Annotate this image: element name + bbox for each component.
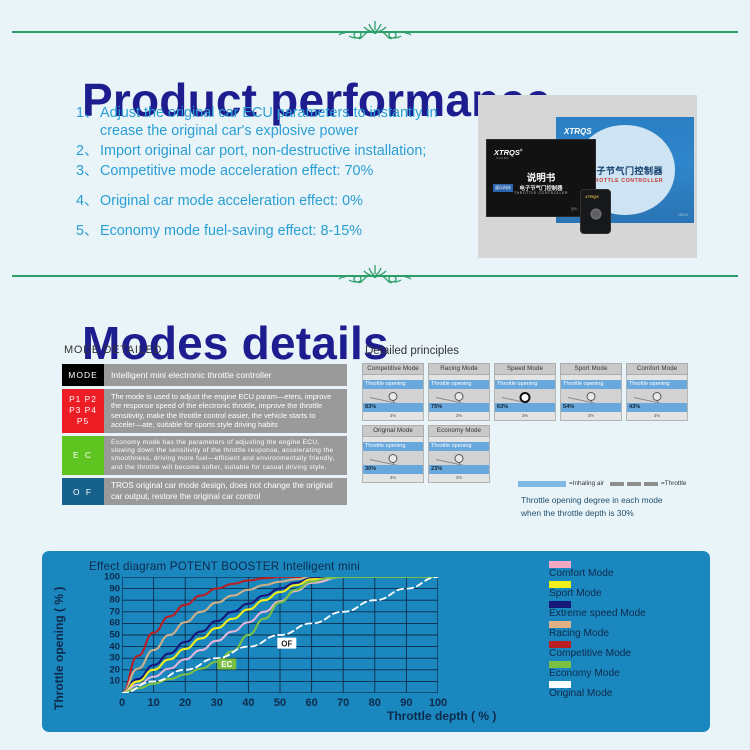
principles-card: Original Mode Throttle opening 30% 3% [362, 425, 424, 483]
detailed-principles-title: Detailed principles [365, 345, 459, 357]
mode-description-cell: Intelligent mini electronic throttle con… [104, 364, 347, 386]
chart-y-tick: 100 [104, 572, 120, 583]
principles-card: Racing Mode Throttle opening 75% 3% [428, 363, 490, 421]
chart-legend-label: Comfort Mode [549, 568, 646, 580]
mode-key-cell: P1 P2 P3 P4 P5 [62, 389, 104, 433]
device-button-icon [590, 208, 601, 219]
mode-key-line: P3 P4 [69, 405, 97, 416]
card-throttle-opening-label: Throttle opening [363, 442, 423, 451]
card-value: 30% [363, 465, 423, 474]
card-body: Throttle opening 54% 3% [560, 375, 622, 421]
card-knob-icon [587, 392, 596, 401]
card-value: 63% [495, 403, 555, 412]
chart-y-tick: 40 [109, 641, 120, 652]
card-title: Competitive Mode [362, 363, 424, 375]
chart-x-tick: 80 [369, 697, 381, 709]
chart-x-tick: 50 [274, 697, 286, 709]
card-title: Original Mode [362, 425, 424, 437]
list-item: 2、 Import original car port, non-destruc… [76, 142, 476, 160]
chart-x-tick: 20 [179, 697, 191, 709]
chart-legend-item: Racing Mode [549, 621, 646, 640]
throttle-swatch [610, 482, 658, 486]
list-item-number: 3、 [76, 162, 100, 180]
effect-diagram-chart: Effect diagram POTENT BOOSTER Intelligen… [42, 551, 710, 732]
card-knob-icon [389, 454, 398, 463]
mode-detailed-title: MODE DETAILED [64, 344, 162, 356]
card-depth-label: 3% [363, 412, 423, 420]
card-depth-label: 3% [429, 474, 489, 482]
chart-y-tick: 50 [109, 630, 120, 641]
chart-legend-label: Sport Mode [549, 588, 646, 600]
chart-plot-area: ECOF [122, 577, 438, 693]
card-title: Sport Mode [560, 363, 622, 375]
chart-legend-item: Economy Mode [549, 661, 646, 680]
ornament-divider-middle [0, 262, 750, 288]
ornament-divider-top [0, 18, 750, 44]
chart-x-tick: 10 [147, 697, 159, 709]
chart-x-axis-label: Throttle depth ( % ) [387, 709, 496, 723]
list-item-number: 4、 [76, 192, 100, 210]
principles-card: Sport Mode Throttle opening 54% 3% [560, 363, 622, 421]
chart-x-tick: 100 [429, 697, 447, 709]
list-item-text: Economy mode fuel-saving effect: 8-15% [100, 222, 476, 240]
manual-english-subtitle: THROTTLE CONTROLLER [487, 191, 595, 195]
card-throttle-opening-label: Throttle opening [627, 380, 687, 389]
card-throttle-opening-label: Throttle opening [429, 442, 489, 451]
card-value: 23% [429, 465, 489, 474]
card-throttle-opening-label: Throttle opening [495, 380, 555, 389]
chart-legend: Comfort ModeSport ModeExtreme speed Mode… [549, 561, 646, 701]
flourish-ornament-icon [315, 18, 435, 49]
list-item: 3、 Competitive mode acceleration effect:… [76, 162, 476, 180]
chart-legend-label: Competitive Mode [549, 648, 646, 660]
card-depth-label: 3% [561, 412, 621, 420]
chart-legend-item: Comfort Mode [549, 561, 646, 580]
chart-y-tick: 30 [109, 653, 120, 664]
product-page: Product performance 1、 Adjust the origin… [0, 0, 750, 750]
list-item: 5、 Economy mode fuel-saving effect: 8-15… [76, 222, 476, 240]
card-title: Economy Mode [428, 425, 490, 437]
list-item: 1、 Adjust the original car ECU parameter… [76, 104, 476, 140]
chart-x-tick: 70 [337, 697, 349, 709]
list-item-text: Original car mode acceleration effect: 0… [100, 192, 476, 210]
card-title: Racing Mode [428, 363, 490, 375]
chart-x-ticks: 0102030405060708090100 [42, 697, 502, 711]
card-body: Throttle opening 75% 3% [428, 375, 490, 421]
principles-card: Speed Mode Throttle opening 63% 3% [494, 363, 556, 421]
chart-legend-swatch [549, 681, 571, 688]
manual-brand-sup: ® [520, 149, 523, 153]
mode-key-line: P1 P2 [69, 394, 97, 405]
card-value: 75% [429, 403, 489, 412]
chart-y-tick: 80 [109, 595, 120, 606]
principles-card-row: Original Mode Throttle opening 30% 3% Ec… [362, 425, 700, 483]
card-body: Throttle opening 30% 3% [362, 437, 424, 483]
chart-y-tick: 60 [109, 618, 120, 629]
mode-description-text: TROS original car mode design, does not … [111, 481, 340, 502]
mode-key-cell: O F [62, 478, 104, 505]
principles-card-row: Competitive Mode Throttle opening 83% 3%… [362, 363, 700, 421]
manual-chinese-title: 说明书 [487, 170, 595, 184]
caption-line-1: Throttle opening degree in each mode [521, 494, 721, 507]
chart-y-tick: 90 [109, 583, 120, 594]
caption-line-2: when the throttle depth is 30% [521, 507, 721, 520]
card-value: 83% [363, 403, 423, 412]
chart-legend-label: Extreme speed Mode [549, 608, 646, 620]
chart-legend-item: Sport Mode [549, 581, 646, 600]
chart-legend-label: Original Mode [549, 688, 646, 700]
list-item-number: 2、 [76, 142, 100, 160]
principles-card: Economy Mode Throttle opening 23% 3% [428, 425, 490, 483]
card-body: Throttle opening 63% 3% [494, 375, 556, 421]
mode-key-cell: E C [62, 436, 104, 476]
table-row: MODE Intelligent mini electronic throttl… [62, 364, 347, 386]
mode-description-cell: The mode is used to adjust the engine EC… [104, 389, 347, 433]
chart-title: Effect diagram POTENT BOOSTER Intelligen… [89, 560, 360, 573]
mode-description-cell: TROS original car mode design, does not … [104, 478, 347, 505]
list-item-text: Competitive mode acceleration effect: 70… [100, 162, 476, 180]
principles-card-grid: Competitive Mode Throttle opening 83% 3%… [362, 363, 700, 487]
mode-description-text: The mode is used to adjust the engine EC… [111, 392, 340, 430]
list-item-text: Adjust the original car ECU parameters t… [100, 104, 476, 140]
card-title: Comfort Mode [626, 363, 688, 375]
chart-x-tick: 60 [305, 697, 317, 709]
card-depth-label: 3% [495, 412, 555, 420]
chart-legend-item: Extreme speed Mode [549, 601, 646, 620]
chart-legend-swatch [549, 561, 571, 568]
card-depth-label: 3% [627, 412, 687, 420]
chart-x-tick: 0 [119, 697, 125, 709]
card-value: 43% [627, 403, 687, 412]
table-row: E C Economy mode has the parameters of a… [62, 436, 347, 476]
chart-y-tick: 70 [109, 606, 120, 617]
box-model-code: MBJS [678, 213, 688, 217]
box-brand-logo: XTRQS [564, 127, 592, 136]
manual-brand-sub: SPEED [496, 156, 509, 160]
card-knob-icon [455, 454, 464, 463]
chart-y-tick: 20 [109, 664, 120, 675]
performance-list: 1、 Adjust the original car ECU parameter… [76, 104, 476, 242]
chart-x-tick: 40 [242, 697, 254, 709]
chart-legend-label: Racing Mode [549, 628, 646, 640]
list-item-text: Import original car port, non-destructiv… [100, 142, 476, 160]
principles-card: Competitive Mode Throttle opening 83% 3% [362, 363, 424, 421]
chart-legend-swatch [549, 601, 571, 608]
throttle-label: =Throttle [661, 480, 686, 487]
card-body: Throttle opening 43% 3% [626, 375, 688, 421]
card-depth-label: 3% [429, 412, 489, 420]
chart-legend-swatch [549, 621, 571, 628]
chart-y-ticks: 102030405060708090100 [88, 573, 120, 697]
list-item-number: 5、 [76, 222, 100, 240]
card-title: Speed Mode [494, 363, 556, 375]
mode-description-cell: Economy mode has the parameters of adjus… [104, 436, 347, 476]
card-knob-icon [653, 392, 662, 401]
table-row: O F TROS original car mode design, does … [62, 478, 347, 505]
chart-legend-label: Economy Mode [549, 668, 646, 680]
card-knob-icon [455, 392, 464, 401]
mode-key-line: P5 [77, 416, 89, 427]
card-body: Throttle opening 23% 3% [428, 437, 490, 483]
device-brand-logo: XTRQS [585, 194, 599, 199]
page-title-modes-details: Modes details [82, 316, 389, 370]
card-throttle-opening-label: Throttle opening [363, 380, 423, 389]
mode-description-text: Intelligent mini electronic throttle con… [111, 370, 272, 380]
card-body: Throttle opening 83% 3% [362, 375, 424, 421]
card-throttle-opening-label: Throttle opening [561, 380, 621, 389]
mode-description-text: Economy mode has the parameters of adjus… [111, 439, 340, 473]
chart-annotation-label: EC [221, 660, 232, 669]
chart-annotation-label: OF [281, 639, 292, 648]
chart-legend-item: Original Mode [549, 681, 646, 700]
chart-x-tick: 90 [400, 697, 412, 709]
legend-row: =Inhaling air =Throttle [518, 480, 703, 487]
chart-y-tick: 10 [109, 676, 120, 687]
inhaling-air-swatch [518, 481, 566, 487]
inhaling-air-label: =Inhaling air [569, 480, 604, 487]
chart-x-tick: 30 [211, 697, 223, 709]
flourish-ornament-icon [315, 262, 435, 293]
chart-legend-swatch [549, 641, 571, 648]
card-knob-icon [520, 392, 531, 403]
principles-legend: =Inhaling air =Throttle [518, 480, 703, 487]
chart-legend-item: Competitive Mode [549, 641, 646, 660]
chart-legend-swatch [549, 661, 571, 668]
card-value: 54% [561, 403, 621, 412]
mode-detailed-table: MODE Intelligent mini electronic throttl… [62, 364, 347, 508]
list-item-number: 1、 [76, 104, 100, 122]
mode-key-cell: MODE [62, 364, 104, 386]
throttle-controller-device: XTRQS [580, 189, 611, 234]
principles-card: Comfort Mode Throttle opening 43% 3% [626, 363, 688, 421]
card-depth-label: 3% [363, 474, 423, 482]
product-photo: XTRQS 速乐 电子节气门控制器 THROTTLE CONTROLLER MB… [478, 95, 697, 258]
list-item: 4、 Original car mode acceleration effect… [76, 192, 476, 210]
card-throttle-opening-label: Throttle opening [429, 380, 489, 389]
chart-legend-swatch [549, 581, 571, 588]
principles-caption: Throttle opening degree in each mode whe… [521, 494, 721, 520]
card-knob-icon [389, 392, 398, 401]
table-row: P1 P2 P3 P4 P5 The mode is used to adjus… [62, 389, 347, 433]
